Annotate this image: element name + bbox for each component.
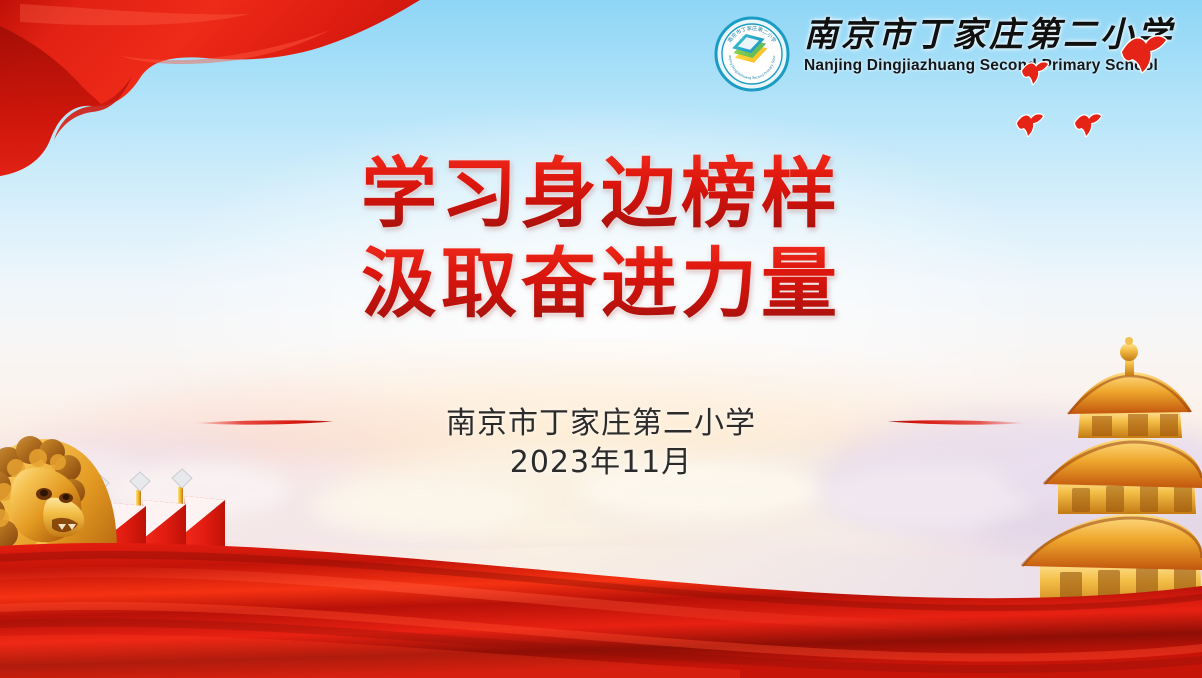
title-slide: 南京市丁家庄第二小学 Nanjing Dingjiazhuang Second … [0, 0, 1202, 678]
dove-icon [1073, 112, 1103, 138]
dove-icon [1015, 112, 1045, 138]
dove-icon [1118, 32, 1170, 76]
school-logo-block: 南京市丁家庄第二小学 Nanjing Dingjiazhuang Second … [714, 16, 1174, 92]
school-emblem-book-icon: 南京市丁家庄第二小学 Nanjing Dingjiazhuang Second … [714, 16, 790, 92]
red-ribbon-sliver-icon [193, 418, 333, 428]
red-ribbon-sliver-icon [888, 418, 1028, 428]
red-silk-wave-icon [0, 508, 1202, 678]
dove-icon [1020, 60, 1050, 86]
red-silk-ribbon-icon [0, 0, 420, 180]
